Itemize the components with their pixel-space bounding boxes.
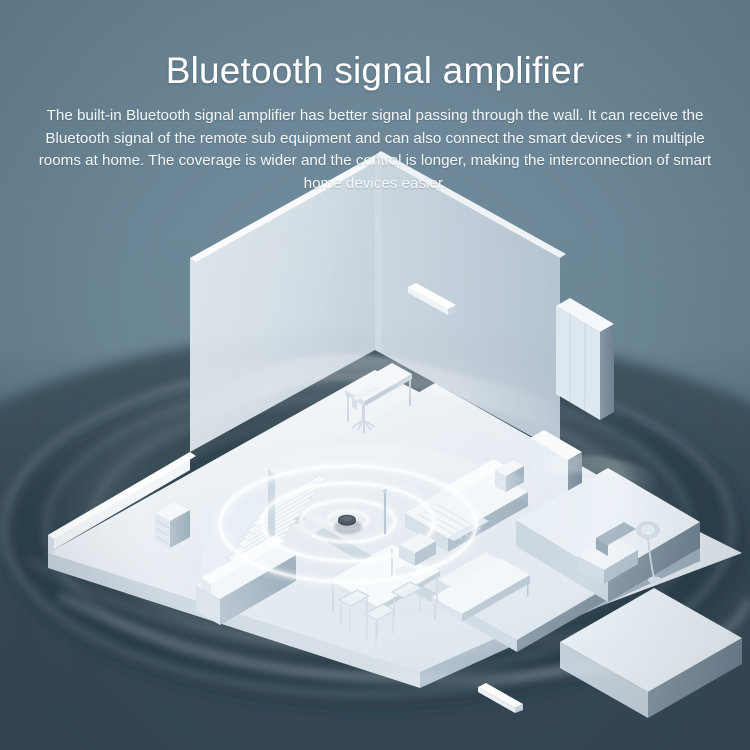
header: Bluetooth signal amplifier The built-in …	[0, 0, 750, 195]
page-title: Bluetooth signal amplifier	[0, 0, 750, 89]
scene-glow	[30, 350, 690, 670]
illustration-page: Bluetooth signal amplifier The built-in …	[0, 0, 750, 750]
page-description: The built-in Bluetooth signal amplifier …	[30, 89, 720, 195]
